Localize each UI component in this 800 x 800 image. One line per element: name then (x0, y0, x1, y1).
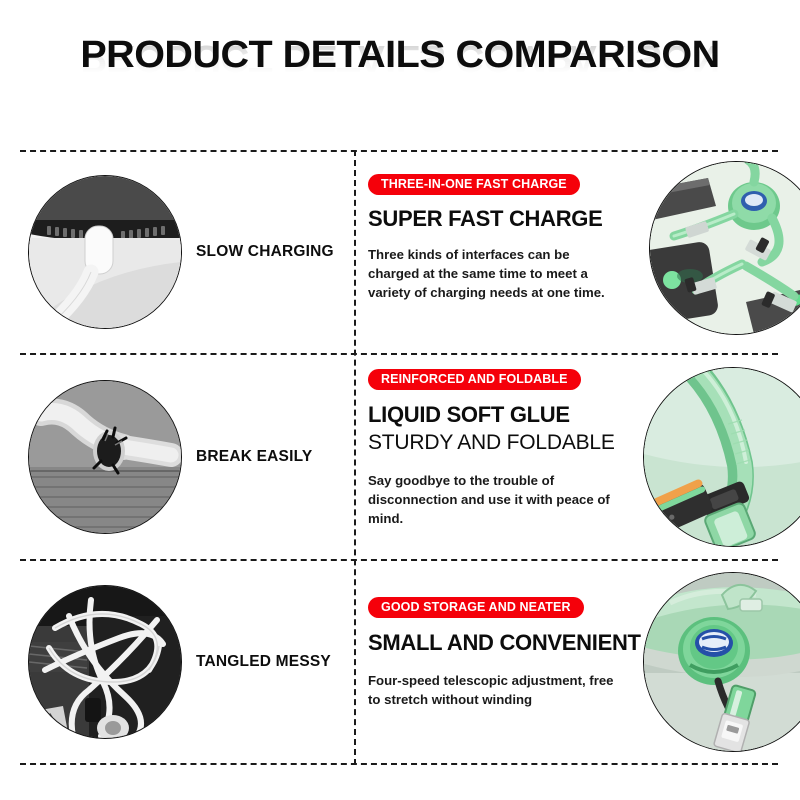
foldable-cable-connector-photo (643, 367, 800, 547)
solution-cell: GOOD STORAGE AND NEATER SMALL AND CONVEN… (355, 561, 800, 763)
feature-description: Say goodbye to the trouble of disconnect… (368, 471, 618, 528)
feature-badge: THREE-IN-ONE FAST CHARGE (368, 174, 580, 195)
problem-cell: BREAK EASILY (0, 355, 354, 558)
problem-label: TANGLED MESSY (196, 653, 331, 671)
divider-bottom (20, 763, 778, 765)
comparison-row: TANGLED MESSY GOOD STORAGE AND NEATER SM… (0, 561, 800, 763)
phone-charging-port-photo (28, 175, 182, 329)
tangled-cables-photo (28, 585, 182, 739)
page-title-reflection: PRODUCT DETAILS COMPARISON (0, 36, 800, 79)
problem-label: SLOW CHARGING (196, 243, 334, 261)
feature-description: Four-speed telescopic adjustment, free t… (368, 671, 618, 709)
solution-text-block: REINFORCED AND FOLDABLE LIQUID SOFT GLUE… (368, 369, 618, 528)
solution-text-block: GOOD STORAGE AND NEATER SMALL AND CONVEN… (368, 597, 618, 709)
problem-cell: TANGLED MESSY (0, 561, 354, 763)
feature-headline: SUPER FAST CHARGE (368, 207, 618, 232)
feature-badge: REINFORCED AND FOLDABLE (368, 369, 581, 390)
solution-cell: REINFORCED AND FOLDABLE LIQUID SOFT GLUE… (355, 355, 800, 558)
feature-headline: SMALL AND CONVENIENT (368, 631, 618, 656)
three-in-one-cable-photo (649, 161, 800, 335)
infographic-page: PRODUCT DETAILS COMPARISON PRODUCT DETAI… (0, 0, 800, 800)
comparison-row: BREAK EASILY REINFORCED AND FOLDABLE LIQ… (0, 355, 800, 558)
problem-label: BREAK EASILY (196, 448, 312, 466)
problem-cell: SLOW CHARGING (0, 152, 354, 352)
page-title-block: PRODUCT DETAILS COMPARISON PRODUCT DETAI… (0, 34, 800, 144)
solution-text-block: THREE-IN-ONE FAST CHARGE SUPER FAST CHAR… (368, 174, 618, 302)
comparison-row: SLOW CHARGING THREE-IN-ONE FAST CHARGE S… (0, 152, 800, 352)
solution-cell: THREE-IN-ONE FAST CHARGE SUPER FAST CHAR… (355, 152, 800, 352)
feature-subheadline: STURDY AND FOLDABLE (368, 431, 618, 455)
retractable-spool-pouch-photo (643, 572, 800, 752)
feature-headline: LIQUID SOFT GLUE (368, 403, 618, 428)
feature-badge: GOOD STORAGE AND NEATER (368, 597, 584, 618)
feature-description: Three kinds of interfaces can be charged… (368, 245, 618, 302)
broken-frayed-cable-photo (28, 380, 182, 534)
